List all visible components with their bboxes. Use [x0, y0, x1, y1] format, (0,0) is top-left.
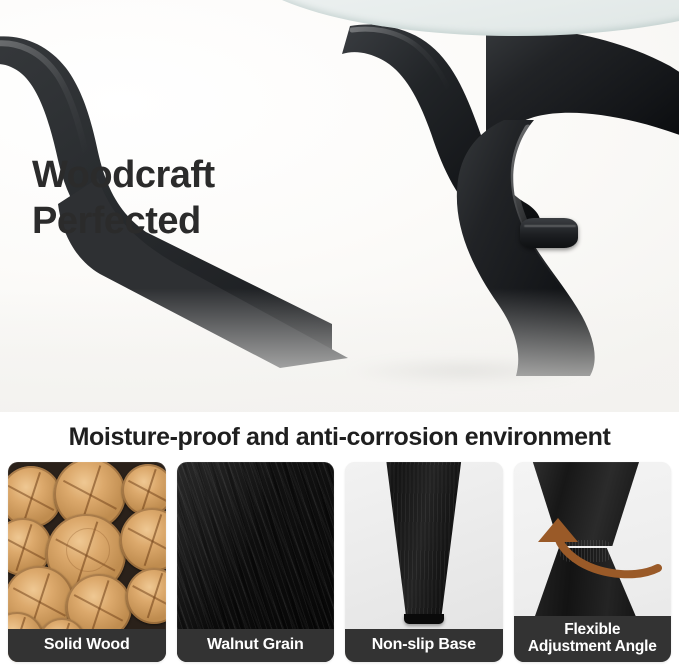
hero-headline: Woodcraft Perfected [32, 152, 362, 245]
feature-label-walnut-grain: Walnut Grain [177, 629, 335, 662]
feature-panel-flexible-angle[interactable]: Flexible Adjustment Angle [514, 462, 672, 662]
features-section: Moisture-proof and anti-corrosion enviro… [0, 412, 679, 671]
non-slip-foot-pad [404, 614, 444, 624]
feature-panel-walnut-grain[interactable]: Walnut Grain [177, 462, 335, 662]
feature-label-line-2: Adjustment Angle [516, 638, 670, 656]
hero-section: Woodcraft Perfected [0, 0, 679, 412]
feature-label-flexible-angle: Flexible Adjustment Angle [514, 616, 672, 662]
feature-label-non-slip-base: Non-slip Base [345, 629, 503, 662]
rotation-arrow-icon [518, 516, 668, 596]
leg-grain-lines [370, 462, 478, 620]
feature-panel-row: Solid Wood Walnut Grain Non-s [8, 462, 671, 671]
feature-panel-solid-wood[interactable]: Solid Wood [8, 462, 166, 662]
feature-panel-non-slip-base[interactable]: Non-slip Base [345, 462, 503, 662]
tapered-leg-shape [370, 462, 478, 620]
headline-line-1: Woodcraft [32, 154, 215, 196]
feature-label-solid-wood: Solid Wood [8, 629, 166, 662]
feature-label-line-1: Flexible [516, 621, 670, 639]
product-marketing-image: Woodcraft Perfected Moisture-proof and a… [0, 0, 679, 671]
features-heading: Moisture-proof and anti-corrosion enviro… [0, 423, 679, 452]
headline-line-2: Perfected [32, 198, 362, 244]
